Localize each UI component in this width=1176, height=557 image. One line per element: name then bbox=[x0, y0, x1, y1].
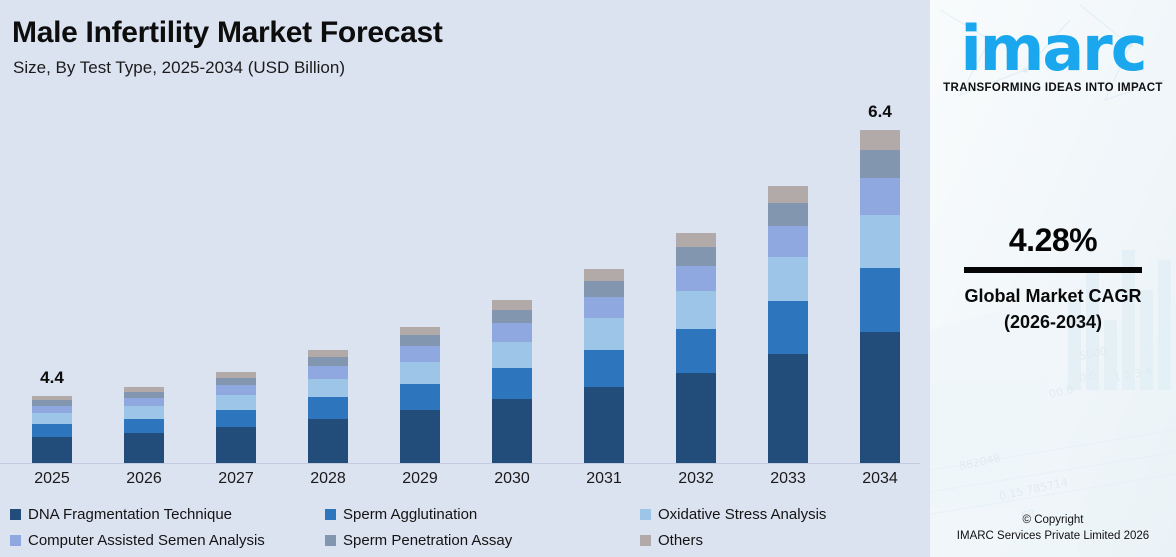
legend-item[interactable]: Sperm Agglutination bbox=[325, 506, 477, 523]
legend-swatch-icon bbox=[10, 535, 21, 546]
bar-segment[interactable] bbox=[676, 373, 716, 463]
stacked-bar[interactable] bbox=[584, 269, 624, 463]
bar-segment[interactable] bbox=[32, 424, 72, 437]
stacked-bar[interactable] bbox=[860, 130, 900, 463]
bar-group bbox=[742, 96, 834, 463]
bar-segment[interactable] bbox=[768, 301, 808, 354]
legend-swatch-icon bbox=[325, 535, 336, 546]
bar-segment[interactable] bbox=[768, 226, 808, 257]
cagr-callout: 4.28% Global Market CAGR (2026-2034) bbox=[930, 222, 1176, 335]
bar-segment[interactable] bbox=[676, 291, 716, 328]
bar-segment[interactable] bbox=[492, 300, 532, 310]
legend-label: Computer Assisted Semen Analysis bbox=[28, 532, 265, 549]
cagr-caption: Global Market CAGR bbox=[930, 283, 1176, 309]
stacked-bar[interactable] bbox=[216, 372, 256, 463]
x-axis-tick-2030: 2030 bbox=[466, 470, 558, 488]
chart-legend: DNA Fragmentation TechniqueSperm Aggluti… bbox=[0, 503, 930, 557]
bar-segment[interactable] bbox=[860, 150, 900, 177]
bar-segment[interactable] bbox=[124, 419, 164, 434]
bar-segment[interactable] bbox=[308, 366, 348, 379]
bar-segment[interactable] bbox=[308, 350, 348, 357]
bar-segment[interactable] bbox=[124, 433, 164, 463]
bar-segment[interactable] bbox=[216, 410, 256, 427]
bar-group bbox=[558, 96, 650, 463]
bar-segment[interactable] bbox=[768, 257, 808, 302]
chart-screenshot: Male Infertility Market Forecast Size, B… bbox=[0, 0, 1176, 557]
bar-segment[interactable] bbox=[308, 357, 348, 366]
legend-label: Oxidative Stress Analysis bbox=[658, 506, 826, 523]
bar-segment[interactable] bbox=[32, 413, 72, 424]
bar-group bbox=[190, 96, 282, 463]
legend-item[interactable]: Computer Assisted Semen Analysis bbox=[10, 532, 265, 549]
bar-segment[interactable] bbox=[860, 268, 900, 332]
cagr-divider bbox=[964, 267, 1142, 273]
bar-segment[interactable] bbox=[400, 384, 440, 410]
page-title: Male Infertility Market Forecast bbox=[12, 16, 443, 50]
bar-segment[interactable] bbox=[584, 350, 624, 387]
bar-segment[interactable] bbox=[676, 266, 716, 292]
stacked-bar[interactable] bbox=[308, 350, 348, 463]
bar-segment[interactable] bbox=[308, 397, 348, 419]
legend-swatch-icon bbox=[640, 509, 651, 520]
bar-segment[interactable] bbox=[32, 406, 72, 413]
bar-group bbox=[466, 96, 558, 463]
bar-segment[interactable] bbox=[400, 346, 440, 361]
x-axis-tick-2033: 2033 bbox=[742, 470, 834, 488]
bar-segment[interactable] bbox=[584, 387, 624, 463]
bar-value-label: 4.4 bbox=[6, 368, 98, 388]
legend-swatch-icon bbox=[325, 509, 336, 520]
copyright-notice: © Copyright IMARC Services Private Limit… bbox=[930, 512, 1176, 544]
bar-segment[interactable] bbox=[584, 318, 624, 349]
legend-label: Others bbox=[658, 532, 703, 549]
bar-group bbox=[374, 96, 466, 463]
bar-segment[interactable] bbox=[124, 406, 164, 418]
bar-segment[interactable] bbox=[124, 398, 164, 407]
x-axis-tick-2028: 2028 bbox=[282, 470, 374, 488]
bar-group bbox=[6, 96, 98, 463]
x-axis-tick-2032: 2032 bbox=[650, 470, 742, 488]
bar-group bbox=[282, 96, 374, 463]
bar-segment[interactable] bbox=[216, 427, 256, 463]
bar-segment[interactable] bbox=[400, 362, 440, 384]
bar-segment[interactable] bbox=[216, 395, 256, 410]
legend-item[interactable]: Oxidative Stress Analysis bbox=[640, 506, 826, 523]
x-axis-tick-2025: 2025 bbox=[6, 470, 98, 488]
bar-segment[interactable] bbox=[768, 186, 808, 203]
bar-segment[interactable] bbox=[216, 385, 256, 395]
bar-segment[interactable] bbox=[768, 203, 808, 226]
bar-segment[interactable] bbox=[860, 215, 900, 268]
brand-panel: 0.15 785714 68 882048 5000 0.0 1 2 3 4 0… bbox=[930, 0, 1176, 557]
copyright-line-1: © Copyright bbox=[930, 512, 1176, 528]
cagr-period: (2026-2034) bbox=[930, 309, 1176, 335]
logo-tagline: TRANSFORMING IDEAS INTO IMPACT bbox=[930, 82, 1176, 94]
bar-segment[interactable] bbox=[308, 379, 348, 397]
bar-group bbox=[834, 96, 926, 463]
bar-segment[interactable] bbox=[492, 399, 532, 463]
bar-value-label: 6.4 bbox=[834, 102, 926, 122]
x-axis-tick-2034: 2034 bbox=[834, 470, 926, 488]
legend-swatch-icon bbox=[640, 535, 651, 546]
chart-panel: Male Infertility Market Forecast Size, B… bbox=[0, 0, 930, 557]
bar-segment[interactable] bbox=[308, 419, 348, 463]
bar-segment[interactable] bbox=[492, 342, 532, 368]
bar-segment[interactable] bbox=[216, 378, 256, 385]
stacked-bar[interactable] bbox=[492, 300, 532, 463]
stacked-bar[interactable] bbox=[124, 387, 164, 463]
legend-label: DNA Fragmentation Technique bbox=[28, 506, 232, 523]
bar-segment[interactable] bbox=[400, 410, 440, 463]
imarc-logo: imarc TRANSFORMING IDEAS INTO IMPACT bbox=[930, 18, 1176, 94]
legend-item[interactable]: Sperm Penetration Assay bbox=[325, 532, 512, 549]
bar-group bbox=[650, 96, 742, 463]
x-axis-tick-2031: 2031 bbox=[558, 470, 650, 488]
bar-segment[interactable] bbox=[492, 368, 532, 399]
stacked-bar[interactable] bbox=[400, 327, 440, 463]
x-axis-tick-2026: 2026 bbox=[98, 470, 190, 488]
bar-segment[interactable] bbox=[676, 329, 716, 373]
stacked-bar[interactable] bbox=[32, 396, 72, 463]
page-subtitle: Size, By Test Type, 2025-2034 (USD Billi… bbox=[13, 58, 345, 78]
bar-segment[interactable] bbox=[400, 327, 440, 335]
x-axis-line bbox=[0, 463, 920, 464]
bar-segment[interactable] bbox=[492, 323, 532, 341]
legend-swatch-icon bbox=[10, 509, 21, 520]
bar-segment[interactable] bbox=[492, 310, 532, 323]
bar-segment[interactable] bbox=[32, 437, 72, 463]
x-axis-tick-2027: 2027 bbox=[190, 470, 282, 488]
bar-segment[interactable] bbox=[584, 297, 624, 319]
x-axis-tick-2029: 2029 bbox=[374, 470, 466, 488]
bar-group bbox=[98, 96, 190, 463]
bar-segment[interactable] bbox=[584, 269, 624, 281]
cagr-value: 4.28% bbox=[930, 222, 1176, 259]
bar-segment[interactable] bbox=[768, 354, 808, 463]
bar-segment[interactable] bbox=[860, 178, 900, 215]
bar-segment[interactable] bbox=[860, 332, 900, 463]
copyright-line-2: IMARC Services Private Limited 2026 bbox=[930, 528, 1176, 544]
logo-wordmark: imarc bbox=[930, 18, 1176, 80]
legend-item[interactable]: DNA Fragmentation Technique bbox=[10, 506, 232, 523]
stacked-bar[interactable] bbox=[676, 233, 716, 463]
legend-label: Sperm Penetration Assay bbox=[343, 532, 512, 549]
bar-segment[interactable] bbox=[400, 335, 440, 346]
stacked-bar[interactable] bbox=[768, 186, 808, 463]
bar-segment[interactable] bbox=[860, 130, 900, 150]
legend-label: Sperm Agglutination bbox=[343, 506, 477, 523]
bar-segment[interactable] bbox=[676, 233, 716, 247]
legend-item[interactable]: Others bbox=[640, 532, 703, 549]
bar-segment[interactable] bbox=[676, 247, 716, 266]
bar-segment[interactable] bbox=[584, 281, 624, 297]
